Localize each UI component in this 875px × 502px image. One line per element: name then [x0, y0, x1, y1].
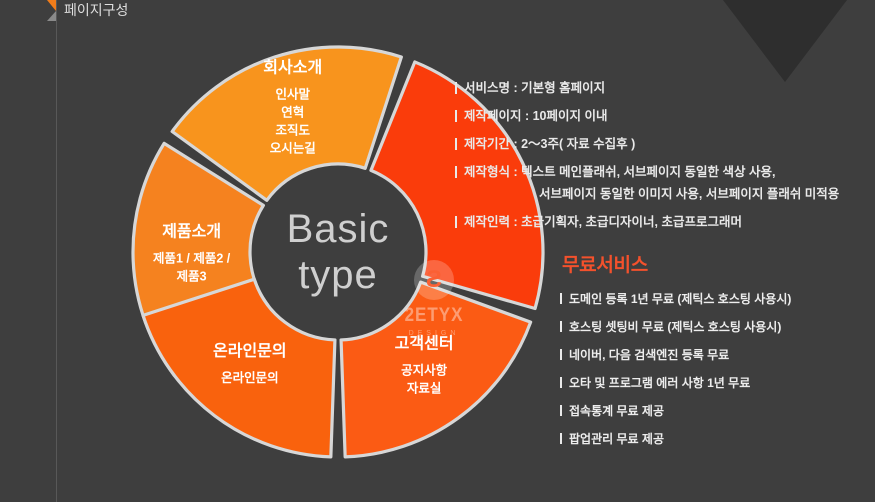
bullet-icon: [560, 433, 562, 444]
donut-segment-line: 연혁: [281, 105, 304, 120]
free-service-item: 접속통계 무료 제공: [560, 403, 875, 419]
free-service-item: 도메인 등록 1년 무료 (제틱스 호스팅 사용시): [560, 291, 875, 307]
donut-segment-line: 인사말: [275, 87, 310, 102]
spec-item-text: 제작페이지 : 10페이지 이내: [464, 108, 608, 125]
bullet-icon: [560, 293, 562, 304]
free-service-item-text: 오타 및 프로그램 에러 사항 1년 무료: [569, 375, 750, 391]
spec-item: 제작페이지 : 10페이지 이내: [455, 108, 865, 125]
left-vertical-rule: [56, 0, 57, 502]
bullet-icon: [560, 405, 562, 416]
free-service-item: 네이버, 다음 검색엔진 등록 무료: [560, 347, 875, 363]
donut-segment-online-inquiry[interactable]: [143, 279, 335, 457]
donut-segment-line: 제품1 / 제품2 /: [153, 251, 231, 265]
spec-item-text: 서비스명 : 기본형 홈페이지: [464, 80, 605, 97]
bullet-icon: [455, 138, 457, 150]
spec-item: 제작형식 : 텍스트 메인플래쉬, 서브페이지 동일한 색상 사용,: [455, 164, 865, 181]
donut-segment-line: 온라인문의: [221, 370, 279, 385]
spec-item-text: 제작인력 : 초급기획자, 초급디자이너, 초급프로그래머: [464, 214, 742, 231]
free-service-item-text: 도메인 등록 1년 무료 (제틱스 호스팅 사용시): [569, 291, 791, 307]
marker-bottom-triangle-icon: [47, 11, 56, 21]
donut-segment-line: 오시는길: [270, 142, 316, 156]
bullet-icon: [455, 82, 457, 94]
free-service-item-text: 네이버, 다음 검색엔진 등록 무료: [569, 347, 729, 363]
free-service-item-text: 접속통계 무료 제공: [569, 403, 664, 419]
bullet-icon: [455, 166, 457, 178]
free-service-item: 오타 및 프로그램 에러 사항 1년 무료: [560, 375, 875, 391]
bullet-icon: [560, 321, 562, 332]
donut-segment-line: 제품3: [177, 269, 207, 283]
free-service-item-text: 호스팅 셋팅비 무료 (제틱스 호스팅 사용시): [569, 319, 781, 335]
donut-segment-title: 온라인문의: [213, 342, 287, 360]
page-marker-icon: [47, 0, 57, 22]
free-service-item: 호스팅 셋팅비 무료 (제틱스 호스팅 사용시): [560, 319, 875, 335]
spec-item: 제작기간 : 2〜3주( 자료 수집후 ): [455, 136, 865, 153]
free-service-item-text: 팝업관리 무료 제공: [569, 431, 664, 447]
spec-item: 서비스명 : 기본형 홈페이지: [455, 80, 865, 97]
corner-triangle-decoration: [723, 0, 847, 82]
donut-segment-title: 제품소개: [162, 221, 221, 240]
slide-canvas: 페이지구성 회사소개인사말연혁조직도오시는길제품소개제품1 / 제품2 /제품3…: [0, 0, 875, 502]
spec-item-text: 제작형식 : 텍스트 메인플래쉬, 서브페이지 동일한 색상 사용,: [464, 164, 775, 181]
spec-item-text: 제작기간 : 2〜3주( 자료 수집후 ): [464, 136, 635, 153]
bullet-icon: [560, 377, 562, 388]
page-title: 페이지구성: [64, 0, 128, 20]
donut-segment-title: 회사소개: [263, 58, 322, 77]
bullet-icon: [455, 216, 457, 228]
bullet-icon: [560, 349, 562, 360]
spec-item: 제작인력 : 초급기획자, 초급디자이너, 초급프로그래머: [455, 214, 865, 231]
free-service-item: 팝업관리 무료 제공: [560, 431, 875, 447]
free-service-title: 무료서비스: [562, 250, 875, 277]
donut-segment-line: 공지사항: [401, 363, 448, 378]
marker-top-triangle-icon: [47, 0, 56, 11]
spec-list: 서비스명 : 기본형 홈페이지 제작페이지 : 10페이지 이내 제작기간 : …: [455, 80, 865, 242]
bullet-icon: [455, 110, 457, 122]
free-service-block: 무료서비스 도메인 등록 1년 무료 (제틱스 호스팅 사용시) 호스팅 셋팅비…: [560, 250, 875, 459]
donut-segment-title: 고객센터: [395, 335, 454, 353]
spec-item-continuation: 서브페이지 동일한 이미지 사용, 서브페이지 플래쉬 미적용: [539, 186, 865, 203]
donut-segment-line: 자료실: [407, 381, 442, 396]
donut-segment-line: 조직도: [275, 123, 310, 138]
